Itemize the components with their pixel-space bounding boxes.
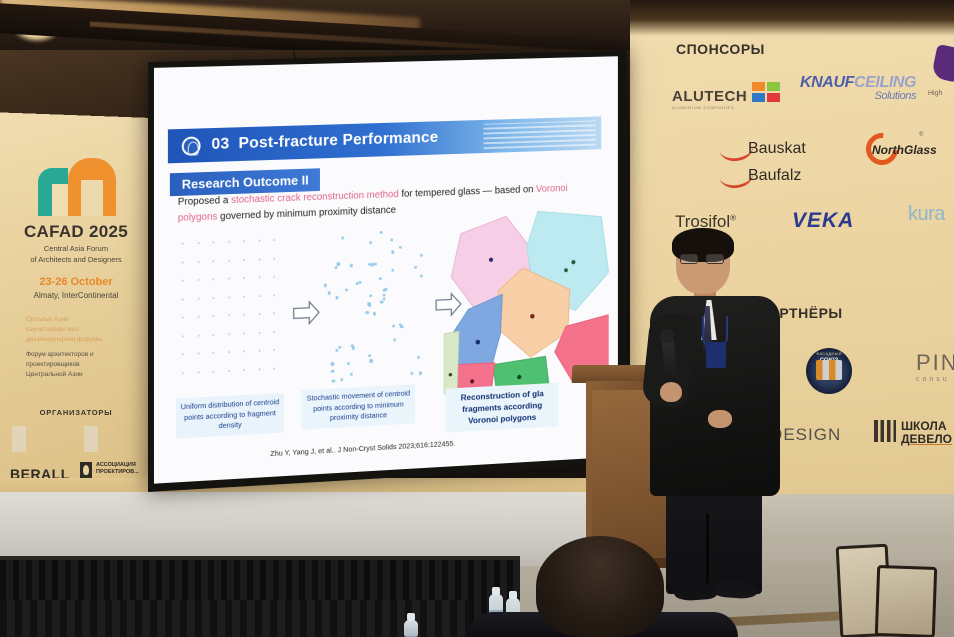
centroid-dot — [228, 333, 230, 335]
audience-chair — [875, 565, 937, 637]
speaker-leg-split — [706, 514, 709, 590]
centroid-dot — [197, 334, 199, 336]
centroid-dot — [273, 349, 275, 351]
cafad-dates: 23-26 October — [0, 276, 152, 288]
eyeglasses-icon — [680, 254, 726, 264]
centroid-dot — [243, 369, 245, 371]
cafad-logo-icon — [38, 154, 116, 216]
body-part-3: governed by minimum proximity distance — [217, 204, 396, 221]
centroid-dot — [273, 312, 275, 314]
centroid-dot — [182, 316, 184, 318]
caption-box-1: Uniform distribution of centroid points … — [176, 393, 284, 438]
centroid-dot — [243, 259, 245, 261]
centroid-dot — [273, 294, 275, 296]
centroid-dot — [182, 298, 184, 300]
centroid-dot — [393, 338, 396, 341]
audience-member-head — [536, 536, 664, 637]
speaker-shoe-left — [673, 582, 718, 601]
centroid-dot — [419, 372, 422, 375]
university-seal-icon — [182, 136, 201, 156]
centroid-dot — [380, 231, 383, 234]
logo-pin: PIN consu — [916, 350, 954, 383]
centroid-dot — [324, 284, 327, 287]
centroid-dot — [273, 239, 275, 241]
centroid-dot — [212, 370, 214, 372]
centroid-dot — [228, 259, 230, 261]
centroid-dot — [243, 240, 245, 242]
centroid-dot — [336, 349, 339, 352]
centroid-dot — [228, 369, 230, 371]
centroid-dot — [228, 278, 230, 280]
centroid-dot — [243, 350, 245, 352]
alutech-name: ALUTECH — [672, 88, 747, 105]
trosifol-reg-mark: ® — [730, 213, 736, 222]
centroid-dot — [212, 241, 214, 243]
logo-assotsiatsiya: АССОЦИАЦИЯ ПРОЕКТИРОВ... — [96, 462, 152, 476]
sponsors-heading: СПОНСОРЫ — [676, 41, 765, 57]
centroid-dot — [258, 276, 260, 278]
centroid-dot — [337, 263, 340, 266]
centroid-dot — [273, 367, 275, 369]
speaker-legs — [666, 482, 762, 594]
centroid-dot — [368, 302, 371, 305]
alutech-sub: ALUMINIUM COMPANIES — [672, 105, 747, 110]
alutech-mark-icon — [752, 82, 782, 104]
centroid-dot — [359, 281, 362, 284]
cafad-brand: CAFAD 2025 — [0, 222, 152, 242]
organizer-logo-b — [84, 426, 142, 452]
centroid-dot — [391, 250, 394, 253]
centroid-dot — [350, 373, 353, 376]
centroid-dot — [212, 278, 214, 280]
left-banner-content: CAFAD 2025 Central Asia Forum of Archite… — [0, 118, 152, 488]
logo-alutech: ALUTECH ALUMINIUM COMPANIES — [672, 88, 747, 110]
knauf-name2: CEILING — [854, 74, 916, 91]
centroid-dot — [243, 332, 245, 334]
centroid-dot — [374, 263, 377, 266]
centroid-dot — [212, 315, 214, 317]
centroid-dot — [379, 277, 382, 280]
centroid-dot — [339, 346, 342, 349]
northglass-reg-mark: ® — [919, 132, 923, 138]
centroid-dot — [391, 269, 394, 272]
fasad-stripes-icon — [816, 360, 842, 380]
logo-northglass: NorthGlass — [872, 143, 937, 157]
centroid-dot — [335, 296, 338, 299]
centroid-dot — [369, 294, 372, 297]
uniform-centroid-grid — [176, 235, 286, 389]
centroid-dot — [212, 333, 214, 335]
logo-high: High — [928, 90, 942, 97]
centroid-dot — [399, 246, 402, 249]
centroid-dot — [341, 236, 344, 239]
centroid-dot — [243, 277, 245, 279]
organizers-heading: ОРГАНИЗАТОРЫ — [0, 408, 152, 417]
centroid-dot — [390, 238, 393, 241]
centroid-dot — [258, 240, 260, 242]
body-part-1: Proposed a — [178, 195, 231, 208]
centroid-dot — [369, 241, 372, 244]
speaker-badge — [706, 342, 726, 368]
fasad-line1: ФАСАДНЫЙ — [806, 351, 852, 356]
centroid-dot — [228, 351, 230, 353]
logo-baufalz: Baufalz — [748, 167, 801, 185]
centroid-dot — [420, 254, 423, 257]
centroid-dot — [420, 274, 423, 277]
speaker-hand-holding-mic — [660, 382, 682, 402]
centroid-dot — [345, 288, 348, 291]
centroid-dot — [197, 353, 199, 355]
centroid-dot — [182, 279, 184, 281]
centroid-dot — [347, 362, 350, 365]
logo-shkola-developera: ШКОЛА ДЕВЕЛО — [901, 420, 952, 445]
centroid-dot — [392, 324, 395, 327]
centroid-dot — [228, 241, 230, 243]
centroid-dot — [373, 312, 376, 315]
section-title: Post-fracture Performance — [238, 129, 438, 152]
centroid-dot — [258, 258, 260, 260]
centroid-dot — [228, 296, 230, 298]
centroid-dot — [197, 260, 199, 262]
centroid-dot — [331, 362, 334, 365]
centroid-dot — [258, 295, 260, 297]
organizer-logo-a — [12, 426, 70, 452]
centroid-dot — [258, 350, 260, 352]
centroid-dot — [197, 242, 199, 244]
centroid-dot — [371, 263, 374, 266]
right-arrow-icon — [292, 298, 321, 327]
centroid-dot — [273, 276, 275, 278]
centroid-dot — [414, 266, 417, 269]
centroid-dot — [370, 359, 373, 362]
centroid-dot — [212, 352, 214, 354]
centroid-dot — [383, 294, 386, 297]
logo-bauskat: Bauskat — [748, 140, 806, 158]
caption-box-3: Reconstruction of gla fragments accordin… — [446, 383, 559, 432]
centroid-dot — [350, 264, 353, 267]
centroid-dot — [366, 311, 369, 314]
centroid-dot — [356, 282, 359, 285]
centroid-dot — [197, 297, 199, 299]
logo-veka: VEKA — [792, 209, 854, 233]
centroid-dot — [328, 292, 331, 295]
caption-box-2: Stochastic movement of centroid points a… — [302, 384, 416, 429]
centroid-dot — [258, 368, 260, 370]
centroid-dot — [340, 378, 343, 381]
speaker-other-hand — [708, 410, 732, 428]
speaker-presenter — [650, 232, 780, 607]
centroid-dot — [182, 372, 184, 375]
cafad-kazakh-text: Орталық Азия сәулетшілері мен дизайнерле… — [26, 315, 136, 345]
front-table-skirt — [0, 600, 470, 637]
centroid-dot — [182, 335, 184, 337]
shkola-line2: ДЕВЕЛО — [901, 432, 952, 446]
stochastic-centroid-scatter — [321, 223, 429, 385]
projected-slide: 03 Post-fracture Performance Research Ou… — [154, 56, 618, 483]
knauf-name: KNAUF — [800, 74, 854, 91]
cafad-tagline: Central Asia Forum of Architects and Des… — [0, 244, 152, 266]
centroid-dot — [331, 369, 334, 372]
body-highlight-1: stochastic crack reconstruction method — [231, 189, 399, 206]
centroid-dot — [258, 313, 260, 315]
centroid-dot — [383, 298, 386, 301]
centroid-dot — [228, 314, 230, 316]
centroid-dot — [197, 316, 199, 318]
projection-screen-frame: 03 Post-fracture Performance Research Ou… — [148, 50, 627, 492]
assoc-mark-icon — [80, 462, 92, 478]
wall-top-shadow — [630, 0, 954, 36]
pin-sub: consu — [916, 376, 954, 383]
centroid-dot — [417, 355, 420, 358]
section-number: 03 — [211, 136, 229, 153]
centroid-dot — [212, 297, 214, 299]
centroid-dot — [410, 372, 413, 375]
centroid-dot — [243, 314, 245, 316]
centroid-dot — [332, 379, 335, 382]
centroid-dot — [335, 266, 338, 269]
knauf-sub: Solutions — [800, 90, 916, 102]
shkola-bars-icon — [874, 420, 896, 442]
centroid-dot — [384, 287, 387, 290]
logo-knauf-ceiling: KNAUFCEILING Solutions — [800, 74, 916, 102]
centroid-dot — [258, 331, 260, 333]
cafad-location: Almaty, InterContinental — [0, 291, 152, 300]
logo-fasadny-soyuz: ФАСАДНЫЙ СОЮЗ — [806, 348, 852, 394]
slide-header-text: 03 Post-fracture Performance — [211, 129, 438, 154]
centroid-dot — [197, 279, 199, 281]
centroid-dot — [368, 354, 371, 357]
centroid-dot — [182, 261, 184, 263]
centroid-dot — [212, 260, 214, 262]
centroid-dot — [197, 371, 199, 373]
water-bottle — [404, 620, 418, 637]
centroid-dot — [182, 353, 184, 355]
centroid-dot — [380, 301, 383, 304]
centroid-dot — [273, 331, 275, 333]
slide-header-bar: 03 Post-fracture Performance — [168, 116, 601, 163]
centroid-dot — [182, 243, 184, 245]
body-part-2: for tempered glass — based on — [399, 184, 536, 200]
logo-kuraray: kura — [908, 203, 945, 226]
slide-citation: Zhu Y, Yang J, et al.. J Non-Cryst Solid… — [270, 439, 455, 458]
header-stripes-decor — [483, 120, 595, 149]
centroid-dot — [273, 257, 275, 259]
cafad-russian-text: Форум архитекторов и проектировщиков Цен… — [26, 350, 136, 380]
pin-name: PIN — [916, 350, 954, 375]
conference-presentation-photo: СПОНСОРЫ Е ПАРТНЁРЫ ALUTECH ALUMINIUM CO… — [0, 0, 954, 637]
centroid-dot — [243, 295, 245, 297]
